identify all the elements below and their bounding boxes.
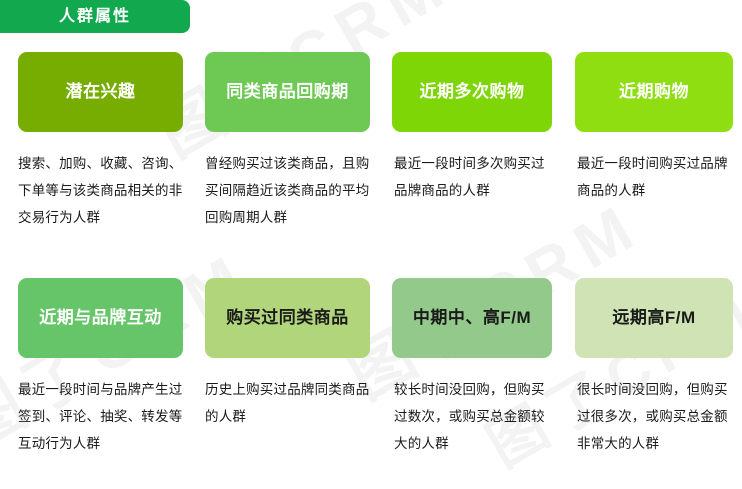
card-cell: 近期多次购物 最近一段时间多次购买过品牌商品的人群 [392,52,552,204]
card-recent-multiple-purchases[interactable]: 近期多次购物 [392,52,552,132]
card-title: 近期购物 [619,82,689,102]
card-similar-goods-repurchase-period[interactable]: 同类商品回购期 [205,52,370,132]
card-description: 最近一段时间购买过品牌商品的人群 [575,150,733,204]
card-recent-purchase[interactable]: 近期购物 [575,52,733,132]
card-cell: 近期与品牌互动 最近一段时间与品牌产生过签到、评论、抽奖、转发等互动行为人群 [18,278,183,457]
card-title: 近期与品牌互动 [39,308,162,328]
card-description: 较长时间没回购，但购买过数次，或购买总金额较大的人群 [392,376,552,457]
card-title: 近期多次购物 [420,82,525,102]
card-description: 搜索、加购、收藏、咨询、下单等与该类商品相关的非交易行为人群 [18,150,183,231]
card-midterm-mid-high-fm[interactable]: 中期中、高F/M [392,278,552,358]
card-cell: 近期购物 最近一段时间购买过品牌商品的人群 [575,52,733,204]
card-title: 购买过同类商品 [226,308,349,328]
card-cell: 购买过同类商品 历史上购买过品牌同类商品的人群 [205,278,370,430]
card-description: 最近一段时间与品牌产生过签到、评论、抽奖、转发等互动行为人群 [18,376,183,457]
page-title: 人群属性 [59,9,131,25]
card-description: 最近一段时间多次购买过品牌商品的人群 [392,150,552,204]
card-title: 同类商品回购期 [226,82,349,102]
card-cell: 同类商品回购期 曾经购买过该类商品，且购买间隔趋近该类商品的平均回购周期人群 [205,52,370,231]
header-banner: 人群属性 [0,0,190,33]
card-purchased-similar-goods[interactable]: 购买过同类商品 [205,278,370,358]
card-description: 历史上购买过品牌同类商品的人群 [205,376,370,430]
card-description: 曾经购买过该类商品，且购买间隔趋近该类商品的平均回购周期人群 [205,150,370,231]
card-potential-interest[interactable]: 潜在兴趣 [18,52,183,132]
card-cell: 潜在兴趣 搜索、加购、收藏、咨询、下单等与该类商品相关的非交易行为人群 [18,52,183,231]
card-recent-brand-interaction[interactable]: 近期与品牌互动 [18,278,183,358]
card-cell: 中期中、高F/M 较长时间没回购，但购买过数次，或购买总金额较大的人群 [392,278,552,457]
card-description: 很长时间没回购，但购买过很多次，或购买总金额非常大的人群 [575,376,733,457]
card-cell: 远期高F/M 很长时间没回购，但购买过很多次，或购买总金额非常大的人群 [575,278,733,457]
card-title: 潜在兴趣 [66,82,136,102]
card-longterm-high-fm[interactable]: 远期高F/M [575,278,733,358]
card-title: 远期高F/M [612,308,695,328]
card-title: 中期中、高F/M [413,308,531,328]
